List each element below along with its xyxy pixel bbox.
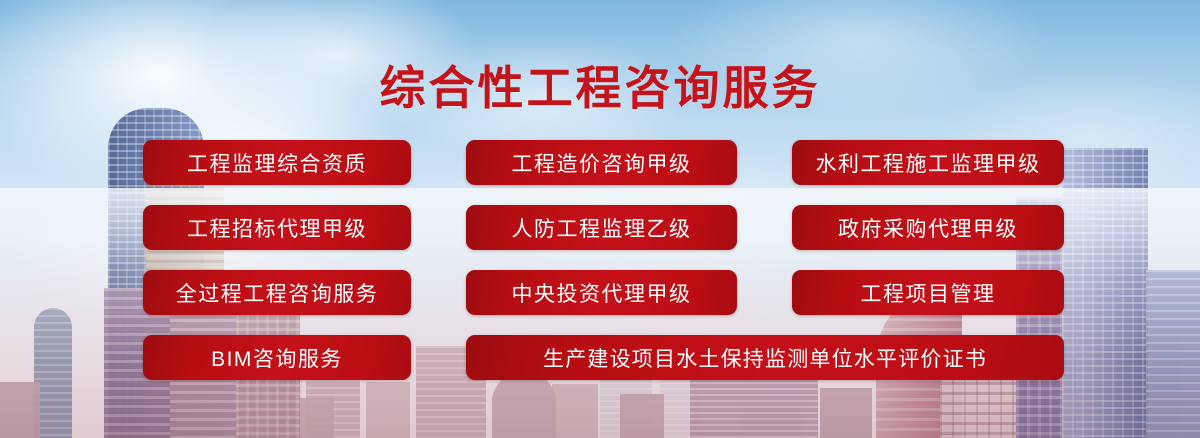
building-silhouette — [366, 382, 410, 438]
qualification-badge-bidding-agency[interactable]: 工程招标代理甲级 — [143, 205, 411, 250]
qualification-badge-whole-process-consulting[interactable]: 全过程工程咨询服务 — [143, 270, 411, 315]
qualification-badge-government-procurement-agency[interactable]: 政府采购代理甲级 — [792, 205, 1064, 250]
page-title: 综合性工程咨询服务 — [0, 52, 1200, 118]
building-silhouette — [1062, 148, 1148, 438]
building-silhouette — [552, 384, 598, 438]
qualification-badge-soil-water-conservation-monitoring[interactable]: 生产建设项目水土保持监测单位水平评价证书 — [466, 335, 1064, 380]
building-silhouette — [1146, 270, 1200, 438]
building-silhouette — [492, 372, 556, 438]
building-silhouette — [820, 388, 872, 438]
building-silhouette — [300, 398, 334, 438]
qualification-badge-engineering-supervision[interactable]: 工程监理综合资质 — [143, 140, 411, 185]
qualification-badge-central-investment-agency[interactable]: 中央投资代理甲级 — [466, 270, 737, 315]
qualification-badge-project-management[interactable]: 工程项目管理 — [792, 270, 1064, 315]
building-silhouette — [690, 376, 818, 438]
building-silhouette — [0, 382, 40, 438]
qualification-badge-bim-consulting[interactable]: BIM咨询服务 — [143, 335, 411, 380]
building-silhouette — [620, 394, 664, 438]
qualification-badge-water-conservancy-supervision[interactable]: 水利工程施工监理甲级 — [792, 140, 1064, 185]
banner-stage: 综合性工程咨询服务 工程监理综合资质 工程造价咨询甲级 水利工程施工监理甲级 工… — [0, 0, 1200, 438]
qualification-badge-cost-consulting[interactable]: 工程造价咨询甲级 — [466, 140, 737, 185]
qualification-badge-civil-defense-supervision[interactable]: 人防工程监理乙级 — [466, 205, 737, 250]
